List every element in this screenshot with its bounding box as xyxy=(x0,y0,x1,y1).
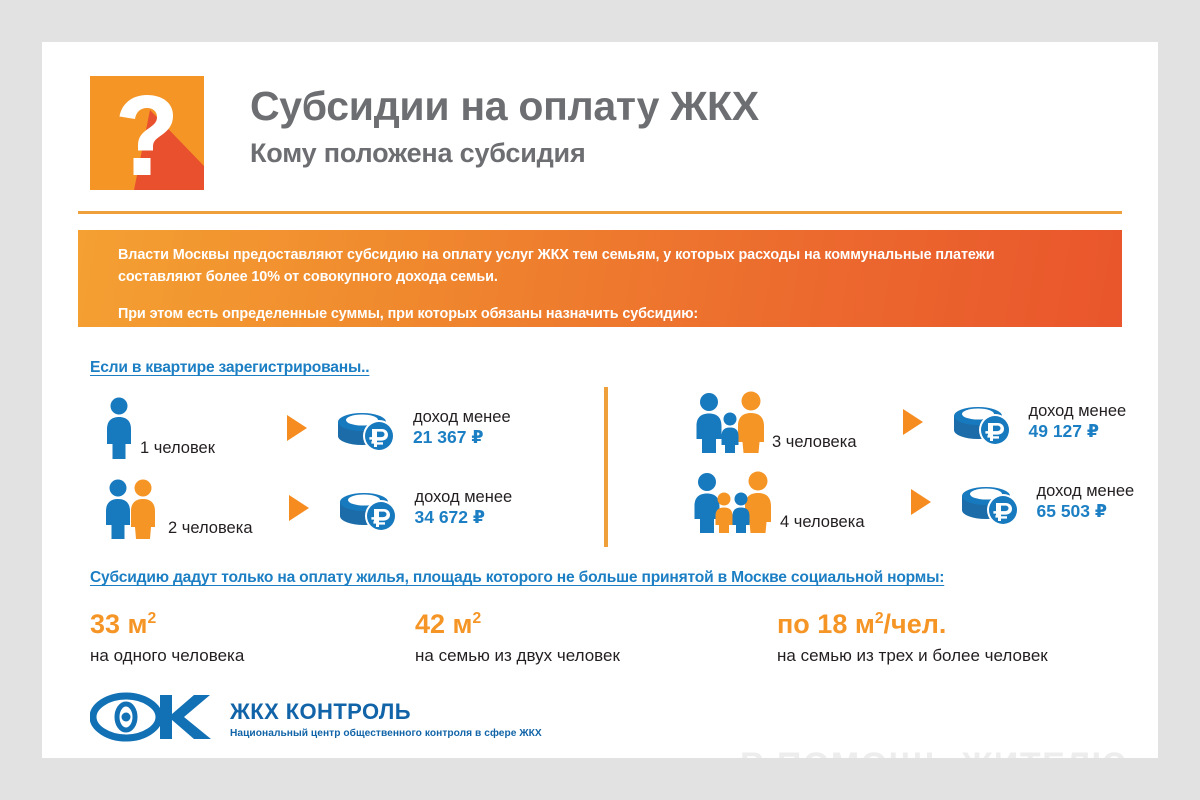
person-4-icon xyxy=(692,471,776,533)
norm-caption: на семью из трех и более человек xyxy=(777,645,1048,667)
income-value: 65 503 ₽ xyxy=(1037,501,1135,523)
footer: ЖКХ КОНТРОЛЬ Национальный центр обществе… xyxy=(90,692,542,747)
norm-value: 42 м2 xyxy=(415,610,620,640)
eye-fish-logo-icon xyxy=(90,692,214,747)
norm-value-text: 42 м xyxy=(415,609,473,639)
norm-value-sup: 2 xyxy=(875,610,884,627)
income-row: 1 человек доход менее 21 367 ₽ xyxy=(102,397,511,459)
header-divider xyxy=(78,211,1122,214)
banner-paragraph-2: При этом есть определенные суммы, при ко… xyxy=(118,303,1078,325)
infographic-card: Субсидии на оплату ЖКХ Кому положена суб… xyxy=(42,42,1158,758)
norm-value-sup: 2 xyxy=(473,610,482,627)
income-rows: 1 человек доход менее 21 367 ₽ xyxy=(42,387,1158,567)
arrow-right-icon xyxy=(903,409,923,435)
norm-value-text: 33 м xyxy=(90,609,148,639)
coins-ruble-icon xyxy=(335,402,399,454)
income-value: 34 672 ₽ xyxy=(415,507,513,529)
norm-item: 42 м2 на семью из двух человек xyxy=(415,610,620,667)
norm-caption: на семью из двух человек xyxy=(415,645,620,667)
people-label: 4 человека xyxy=(780,514,865,534)
income-block: доход менее 34 672 ₽ xyxy=(415,487,513,530)
question-mark-icon xyxy=(90,76,204,190)
logo-subtitle: Национальный центр общественного контрол… xyxy=(230,728,542,739)
norm-value: 33 м2 xyxy=(90,610,244,640)
norm-value: по 18 м2/чел. xyxy=(777,610,1048,640)
person-3-icon xyxy=(692,391,768,453)
arrow-right-icon xyxy=(287,415,307,441)
intro-banner: Власти Москвы предоставляют субсидию на … xyxy=(78,230,1122,327)
income-block: доход менее 49 127 ₽ xyxy=(1029,401,1127,444)
registered-heading: Если в квартире зарегистрированы.. xyxy=(90,359,369,377)
income-row: 3 человека доход менее 49 127 ₽ xyxy=(692,391,1126,453)
norm-value-sup: 2 xyxy=(148,610,157,627)
income-caption: доход менее xyxy=(1037,481,1135,502)
people-label: 3 человека xyxy=(772,434,857,454)
page-subtitle: Кому положена субсидия xyxy=(250,137,759,169)
income-caption: доход менее xyxy=(413,407,511,428)
norms-heading: Субсидию дадут только на оплату жилья, п… xyxy=(90,569,944,587)
column-divider xyxy=(604,387,608,547)
person-1-icon xyxy=(102,397,136,459)
coins-ruble-icon xyxy=(337,482,401,534)
norm-value-text: по 18 м xyxy=(777,609,875,639)
watermark: В ПОМОЩЬ ЖИТЕЛЮ xyxy=(740,748,1128,758)
income-block: доход менее 65 503 ₽ xyxy=(1037,481,1135,524)
logo-text-block: ЖКХ КОНТРОЛЬ Национальный центр обществе… xyxy=(230,700,542,738)
norm-value-suffix: /чел. xyxy=(884,609,947,639)
income-row: 4 человека доход менее 65 503 ₽ xyxy=(692,471,1134,533)
income-value: 21 367 ₽ xyxy=(413,427,511,449)
income-caption: доход менее xyxy=(415,487,513,508)
header: Субсидии на оплату ЖКХ Кому положена суб… xyxy=(90,76,759,190)
header-titles: Субсидии на оплату ЖКХ Кому положена суб… xyxy=(250,76,759,169)
banner-paragraph-1: Власти Москвы предоставляют субсидию на … xyxy=(118,244,1078,289)
norm-item: по 18 м2/чел. на семью из трех и более ч… xyxy=(777,610,1048,667)
norm-caption: на одного человека xyxy=(90,645,244,667)
income-block: доход менее 21 367 ₽ xyxy=(413,407,511,450)
income-caption: доход менее xyxy=(1029,401,1127,422)
arrow-right-icon xyxy=(911,489,931,515)
people-label: 2 человека xyxy=(168,520,253,540)
coins-ruble-icon xyxy=(951,396,1015,448)
norm-item: 33 м2 на одного человека xyxy=(90,610,244,667)
coins-ruble-icon xyxy=(959,476,1023,528)
income-row: 2 человека доход менее 34 672 ₽ xyxy=(102,477,512,539)
logo-title: ЖКХ КОНТРОЛЬ xyxy=(230,700,542,723)
person-2-icon xyxy=(102,477,164,539)
income-value: 49 127 ₽ xyxy=(1029,421,1127,443)
page-title: Субсидии на оплату ЖКХ xyxy=(250,84,759,130)
people-label: 1 человек xyxy=(140,440,215,460)
arrow-right-icon xyxy=(289,495,309,521)
